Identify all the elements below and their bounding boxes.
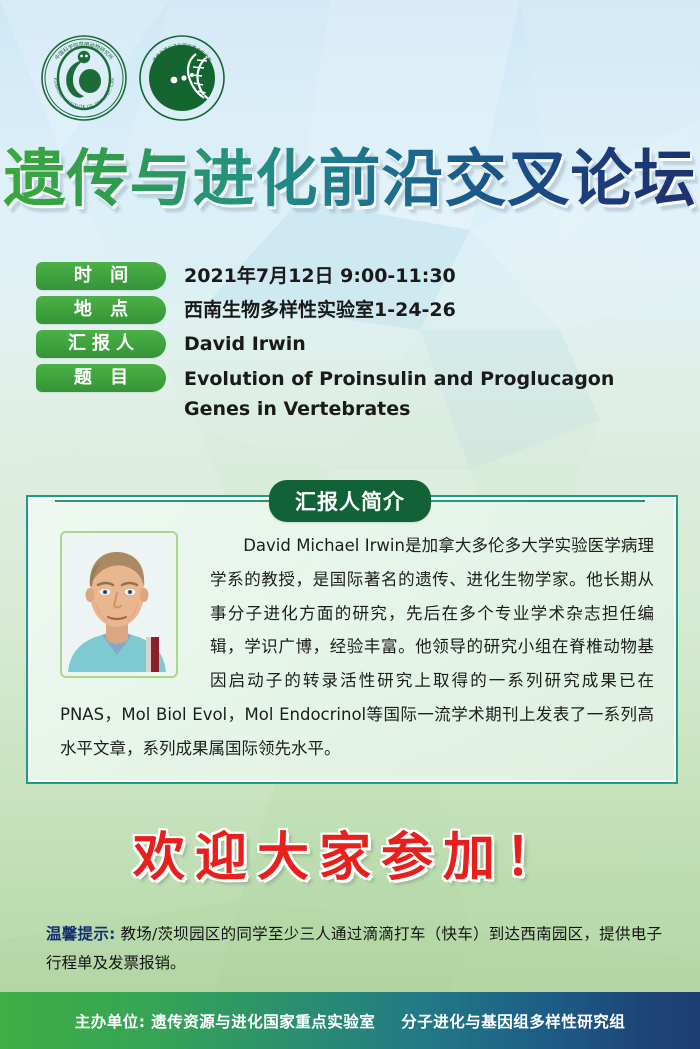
speaker-bio-box: David Michael Irwin是加拿大多伦多大学实验医学病理学系的教授，… bbox=[26, 495, 678, 784]
info-value-topic: Evolution of Proinsulin and Proglucagon … bbox=[184, 364, 614, 424]
info-value-location: 西南生物多样性实验室1-24-26 bbox=[184, 296, 456, 324]
note-body: 教场/茨坝园区的同学至少三人通过滴滴打车（快车）到达西南园区，提供电子行程单及发… bbox=[46, 925, 662, 972]
logo-group: 中国科学院昆明动物研究所 · KUNMING INSTITUTE OF ZOOL… bbox=[40, 34, 226, 122]
divider-right bbox=[425, 500, 645, 502]
info-label-location: 地 点 bbox=[36, 296, 166, 324]
info-row-topic: 题 目 Evolution of Proinsulin and Progluca… bbox=[36, 364, 666, 424]
info-value-speaker: David Irwin bbox=[184, 330, 306, 358]
page-title: 遗传与进化前沿交叉论坛 bbox=[3, 146, 696, 211]
kunming-institute-of-zoology-logo: 中国科学院昆明动物研究所 · KUNMING INSTITUTE OF ZOOL… bbox=[40, 34, 128, 122]
footer-bar: 主办单位: 遗传资源与进化国家重点实验室 分子进化与基因组多样性研究组 bbox=[0, 992, 700, 1049]
event-info-list: 时 间 2021年7月12日 9:00-11:30 地 点 西南生物多样性实验室… bbox=[36, 262, 666, 430]
poster-title-wrap: 遗传与进化前沿交叉论坛 bbox=[0, 146, 700, 211]
footer-content: 主办单位: 遗传资源与进化国家重点实验室 分子进化与基因组多样性研究组 bbox=[75, 1010, 626, 1032]
info-row-speaker: 汇报人 David Irwin bbox=[36, 330, 666, 358]
event-poster: 中国科学院昆明动物研究所 · KUNMING INSTITUTE OF ZOOL… bbox=[0, 0, 700, 1049]
footer-organizer: 主办单位: 遗传资源与进化国家重点实验室 bbox=[75, 1010, 376, 1032]
speaker-bio-header: 汇报人简介 bbox=[0, 480, 700, 522]
footer-group: 分子进化与基因组多样性研究组 bbox=[401, 1010, 625, 1032]
note-label: 温馨提示: bbox=[46, 925, 115, 943]
info-label-speaker: 汇报人 bbox=[36, 330, 166, 358]
bio-text-float-spacer bbox=[60, 529, 210, 683]
note-text: 温馨提示: 教场/茨坝园区的同学至少三人通过滴滴打车（快车）到达西南园区，提供电… bbox=[46, 920, 662, 977]
speaker-bio-inner: David Michael Irwin是加拿大多伦多大学实验医学病理学系的教授，… bbox=[34, 503, 670, 776]
status-badge: 汇报人简介 bbox=[269, 480, 431, 522]
info-value-time: 2021年7月12日 9:00-11:30 bbox=[184, 262, 456, 290]
state-key-laboratory-logo: 遗传资源与进化国家重点实验室 State Key Laboratory of G… bbox=[138, 34, 226, 122]
info-label-topic: 题 目 bbox=[36, 364, 166, 392]
info-row-location: 地 点 西南生物多样性实验室1-24-26 bbox=[36, 296, 666, 324]
info-row-time: 时 间 2021年7月12日 9:00-11:30 bbox=[36, 262, 666, 290]
welcome-text: 欢迎大家参加！ bbox=[0, 815, 700, 890]
info-label-time: 时 间 bbox=[36, 262, 166, 290]
divider-left bbox=[55, 500, 275, 502]
speaker-bio-text: David Michael Irwin是加拿大多伦多大学实验医学病理学系的教授，… bbox=[34, 529, 654, 766]
